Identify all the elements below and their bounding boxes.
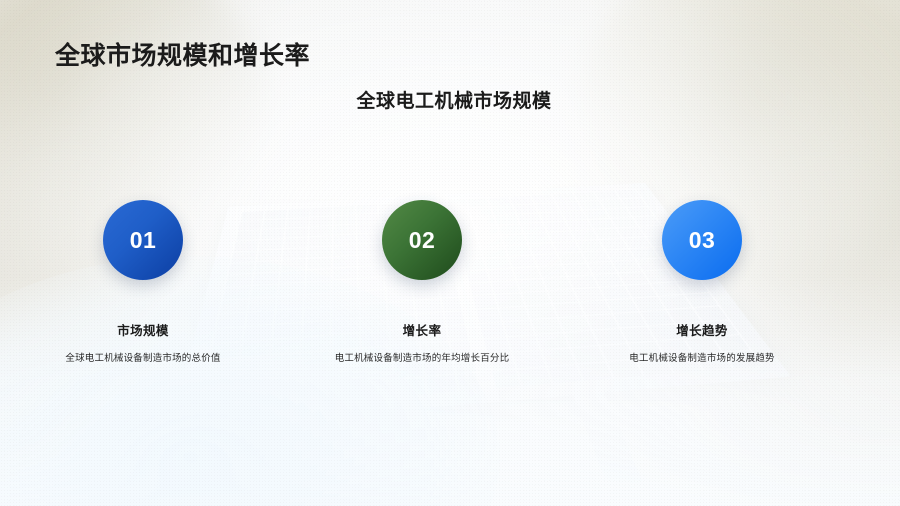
item-number-badge-01: 01: [103, 200, 183, 280]
item-heading-01: 市场规模: [18, 320, 268, 339]
item-column-03: 03 增长趋势 电工机械设备制造市场的发展趋势: [577, 200, 827, 368]
slide-title: 全球市场规模和增长率: [55, 36, 310, 72]
item-columns: 01 市场规模 全球电工机械设备制造市场的总价值 02 增长率 电工机械设备制造…: [0, 200, 900, 410]
item-column-01: 01 市场规模 全球电工机械设备制造市场的总价值: [18, 200, 268, 368]
item-column-02: 02 增长率 电工机械设备制造市场的年均增长百分比: [297, 200, 547, 368]
item-description-03: 电工机械设备制造市场的发展趋势: [595, 350, 810, 368]
item-heading-03: 增长趋势: [577, 320, 827, 339]
slide-subtitle: 全球电工机械市场规模: [0, 86, 900, 113]
item-heading-02: 增长率: [297, 320, 547, 339]
slide-subtitle-text: 全球电工机械市场规模: [356, 91, 551, 112]
slide-content: 全球市场规模和增长率 全球电工机械市场规模 01 市场规模 全球电工机械设备制造…: [0, 0, 900, 506]
item-number-badge-03: 03: [662, 200, 742, 280]
item-number-badge-02: 02: [382, 200, 462, 280]
item-description-02: 电工机械设备制造市场的年均增长百分比: [327, 350, 517, 368]
presentation-slide: 全球市场规模和增长率 全球电工机械市场规模 01 市场规模 全球电工机械设备制造…: [0, 0, 900, 506]
item-description-01: 全球电工机械设备制造市场的总价值: [48, 350, 238, 368]
